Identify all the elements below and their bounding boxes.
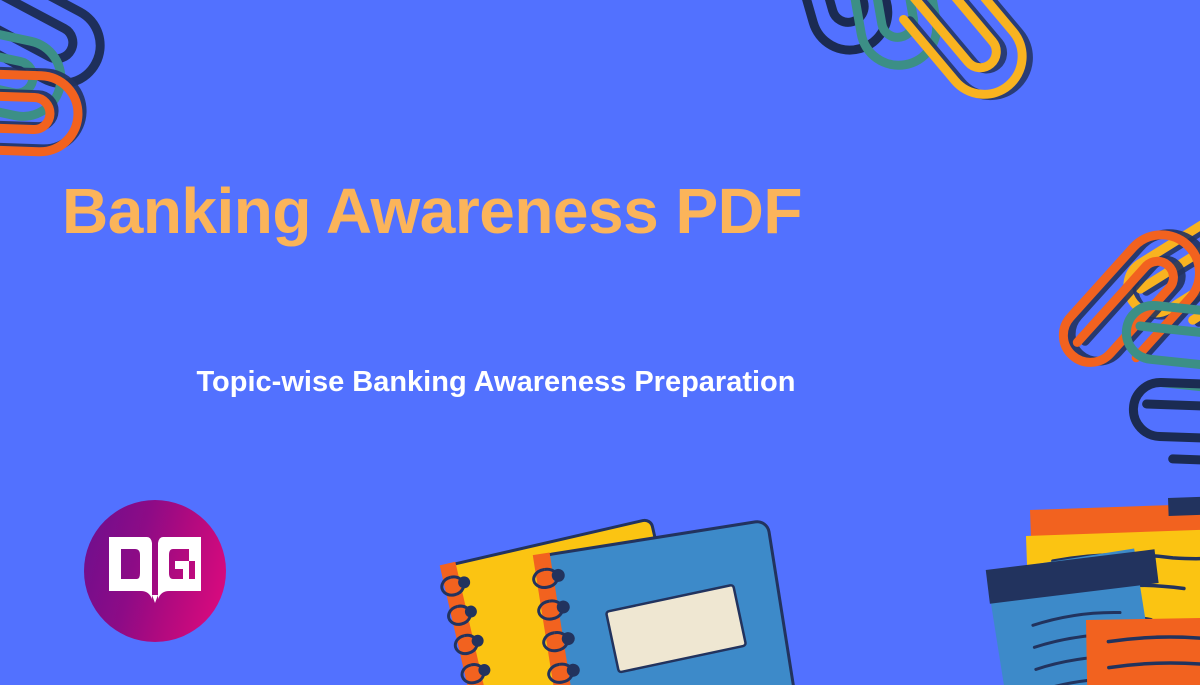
brand-logo-badge[interactable] (84, 500, 226, 642)
page-title: Banking Awareness PDF (62, 178, 802, 245)
dg-open-book-icon (107, 533, 203, 609)
poster-canvas: Banking Awareness PDF Topic-wise Banking… (0, 0, 1200, 685)
page-subtitle: Topic-wise Banking Awareness Preparation (60, 362, 932, 403)
